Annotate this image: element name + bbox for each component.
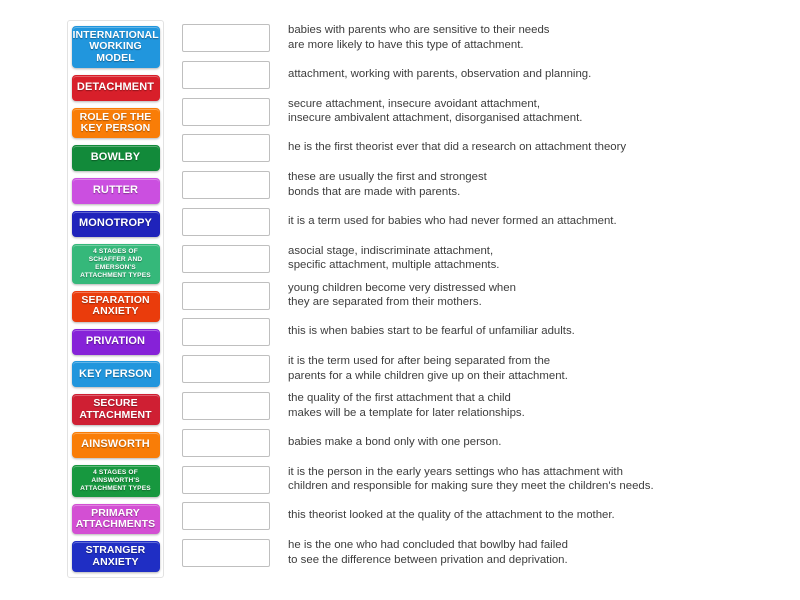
answer-drop-box[interactable] — [182, 318, 270, 346]
draggable-tile[interactable]: INTERNATIONAL WORKING MODEL — [72, 26, 160, 68]
answer-drop-box[interactable] — [182, 24, 270, 52]
answer-drop-box[interactable] — [182, 171, 270, 199]
answer-drop-box[interactable] — [182, 539, 270, 567]
answer-row: it is the term used for after being sepa… — [182, 353, 782, 390]
definition-text: the quality of the first attachment that… — [288, 390, 782, 420]
draggable-tile[interactable]: SECURE ATTACHMENT — [72, 394, 160, 425]
draggable-tile[interactable]: 4 STAGES OF AINSWORTH'S ATTACHMENT TYPES — [72, 465, 160, 497]
answer-row: babies with parents who are sensitive to… — [182, 22, 782, 59]
draggable-tile[interactable]: RUTTER — [72, 178, 160, 204]
definition-text: he is the one who had concluded that bow… — [288, 537, 782, 567]
definition-text: secure attachment, insecure avoidant att… — [288, 96, 782, 126]
answer-row: he is the first theorist ever that did a… — [182, 132, 782, 169]
answer-drop-box[interactable] — [182, 355, 270, 383]
draggable-tile[interactable]: PRIVATION — [72, 329, 160, 355]
draggable-tile[interactable]: PRIMARY ATTACHMENTS — [72, 504, 160, 535]
draggable-tile[interactable]: MONOTROPY — [72, 211, 160, 237]
draggable-tile[interactable]: 4 STAGES OF SCHAFFER AND EMERSON'S ATTAC… — [72, 244, 160, 284]
answer-row: babies make a bond only with one person. — [182, 427, 782, 464]
answer-row: it is a term used for babies who had nev… — [182, 206, 782, 243]
draggable-tile[interactable]: DETACHMENT — [72, 75, 160, 101]
definition-text: these are usually the first and stronges… — [288, 169, 782, 199]
definition-text: asocial stage, indiscriminate attachment… — [288, 243, 782, 273]
answer-rows: babies with parents who are sensitive to… — [182, 22, 782, 574]
answer-row: the quality of the first attachment that… — [182, 390, 782, 427]
answer-row: asocial stage, indiscriminate attachment… — [182, 243, 782, 280]
draggable-tile[interactable]: ROLE OF THE KEY PERSON — [72, 108, 160, 139]
answer-drop-box[interactable] — [182, 392, 270, 420]
answer-drop-box[interactable] — [182, 98, 270, 126]
answer-drop-box[interactable] — [182, 208, 270, 236]
draggable-tile[interactable]: SEPARATION ANXIETY — [72, 291, 160, 322]
definition-text: it is the term used for after being sepa… — [288, 353, 782, 383]
draggable-tile[interactable]: AINSWORTH — [72, 432, 160, 458]
answer-drop-box[interactable] — [182, 466, 270, 494]
definition-text: young children become very distressed wh… — [288, 280, 782, 310]
answer-drop-box[interactable] — [182, 245, 270, 273]
answer-row: young children become very distressed wh… — [182, 280, 782, 317]
answer-drop-box[interactable] — [182, 61, 270, 89]
definition-text: it is the person in the early years sett… — [288, 464, 782, 494]
answer-drop-box[interactable] — [182, 134, 270, 162]
definition-text: babies make a bond only with one person. — [288, 427, 782, 450]
definition-text: this theorist looked at the quality of t… — [288, 500, 782, 523]
definition-text: this is when babies start to be fearful … — [288, 316, 782, 339]
definition-text: attachment, working with parents, observ… — [288, 59, 782, 82]
answer-row: it is the person in the early years sett… — [182, 464, 782, 501]
answer-row: this theorist looked at the quality of t… — [182, 500, 782, 537]
answer-row: attachment, working with parents, observ… — [182, 59, 782, 96]
answer-row: secure attachment, insecure avoidant att… — [182, 96, 782, 133]
draggable-tile[interactable]: BOWLBY — [72, 145, 160, 171]
definition-text: it is a term used for babies who had nev… — [288, 206, 782, 229]
tile-tray: INTERNATIONAL WORKING MODELDETACHMENTROL… — [67, 20, 164, 578]
answer-row: these are usually the first and stronges… — [182, 169, 782, 206]
draggable-tile[interactable]: KEY PERSON — [72, 361, 160, 387]
definition-text: he is the first theorist ever that did a… — [288, 132, 782, 155]
answer-row: he is the one who had concluded that bow… — [182, 537, 782, 574]
answer-drop-box[interactable] — [182, 502, 270, 530]
answer-row: this is when babies start to be fearful … — [182, 316, 782, 353]
answer-drop-box[interactable] — [182, 429, 270, 457]
definition-text: babies with parents who are sensitive to… — [288, 22, 782, 52]
answer-drop-box[interactable] — [182, 282, 270, 310]
draggable-tile[interactable]: STRANGER ANXIETY — [72, 541, 160, 572]
match-up-activity: INTERNATIONAL WORKING MODELDETACHMENTROL… — [0, 0, 800, 600]
